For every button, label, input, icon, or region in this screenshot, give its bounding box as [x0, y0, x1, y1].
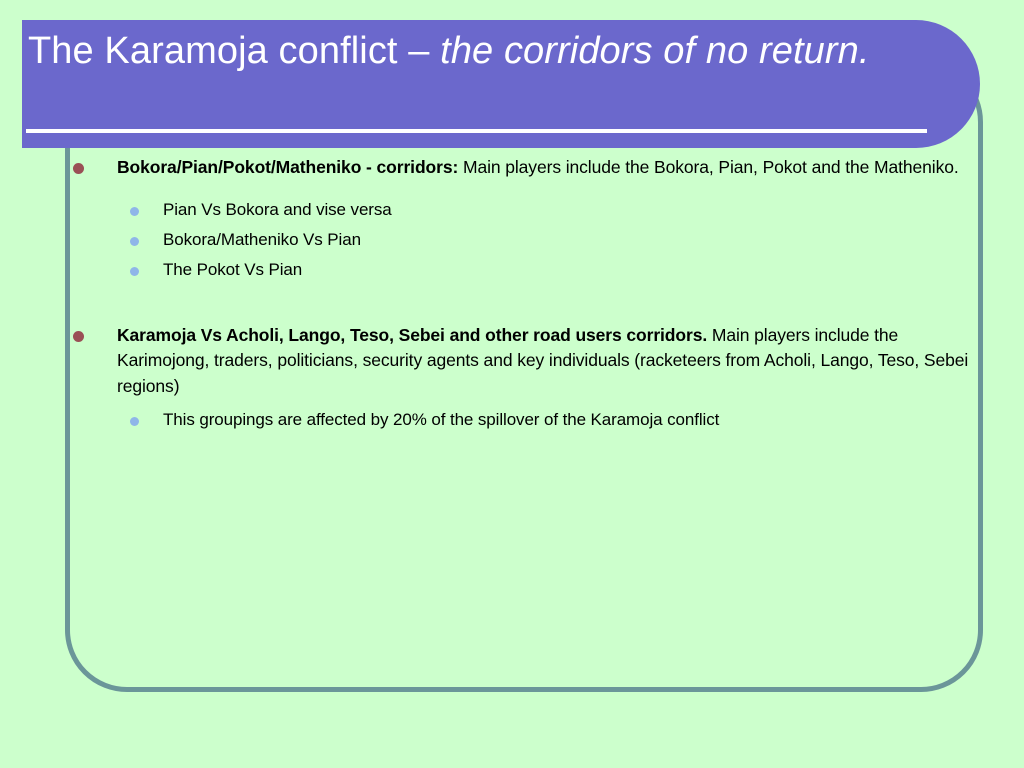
title-italic: the corridors of no return. — [440, 30, 869, 72]
bullet-marker-level2-icon — [130, 267, 139, 276]
bullet-marker-level1-icon — [73, 163, 84, 174]
title-plain: The Karamoja conflict – — [28, 30, 440, 72]
list-item: Karamoja Vs Acholi, Lango, Teso, Sebei a… — [65, 323, 983, 400]
slide: The Karamoja conflict – the corridors of… — [0, 0, 1024, 768]
title-banner: The Karamoja conflict – the corridors of… — [22, 20, 980, 148]
bullet-marker-level2-icon — [130, 237, 139, 246]
list-item-text: Pian Vs Bokora and vise versa — [163, 200, 392, 219]
page-title: The Karamoja conflict – the corridors of… — [28, 28, 908, 75]
bullet-marker-level2-icon — [130, 207, 139, 216]
list-item-text: Main players include the Bokora, Pian, P… — [458, 157, 958, 177]
list-item: Bokora/Pian/Pokot/Matheniko - corridors:… — [65, 155, 983, 181]
list-item-text: The Pokot Vs Pian — [163, 260, 302, 279]
list-item-text: This groupings are affected by 20% of th… — [163, 410, 719, 429]
list-item-lead: Bokora/Pian/Pokot/Matheniko - corridors: — [117, 157, 458, 177]
bullet-marker-level2-icon — [130, 417, 139, 426]
list-item: Pian Vs Bokora and vise versa — [65, 195, 983, 225]
list-item: Bokora/Matheniko Vs Pian — [65, 225, 983, 255]
bullet-marker-level1-icon — [73, 331, 84, 342]
title-underline-rule — [26, 129, 927, 133]
list-item: The Pokot Vs Pian — [65, 255, 983, 285]
list-item-lead: Karamoja Vs Acholi, Lango, Teso, Sebei a… — [117, 325, 707, 345]
list-item-text: Bokora/Matheniko Vs Pian — [163, 230, 361, 249]
list-item: This groupings are affected by 20% of th… — [65, 405, 983, 435]
spacer — [65, 181, 983, 195]
body-content: Bokora/Pian/Pokot/Matheniko - corridors:… — [65, 155, 983, 675]
spacer — [65, 285, 983, 323]
